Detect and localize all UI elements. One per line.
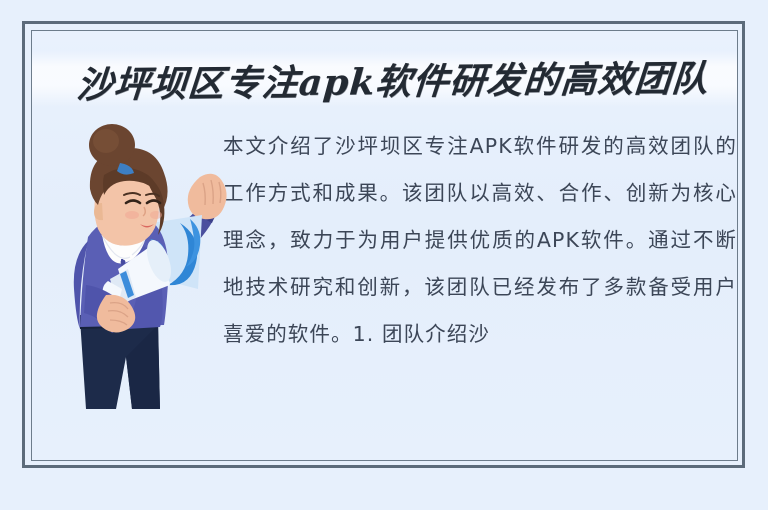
illustration-woman-with-megaphone — [40, 119, 230, 449]
zipper-pull — [121, 260, 126, 265]
poster-stage: 沙坪坝区专注apk软件研发的高效团队 本文介绍了沙坪坝区专注APK软件研发的高效… — [32, 31, 737, 460]
poster-canvas: 沙坪坝区专注apk软件研发的高效团队 本文介绍了沙坪坝区专注APK软件研发的高效… — [0, 0, 768, 510]
woman-megaphone-icon — [40, 119, 230, 449]
raised-hand — [188, 174, 227, 219]
hair-bun-highlight — [93, 129, 119, 153]
article-body: 本文介绍了沙坪坝区专注APK软件研发的高效团队的工作方式和成果。该团队以高效、合… — [223, 123, 737, 423]
page-title: 沙坪坝区专注apk软件研发的高效团队 — [46, 49, 737, 108]
